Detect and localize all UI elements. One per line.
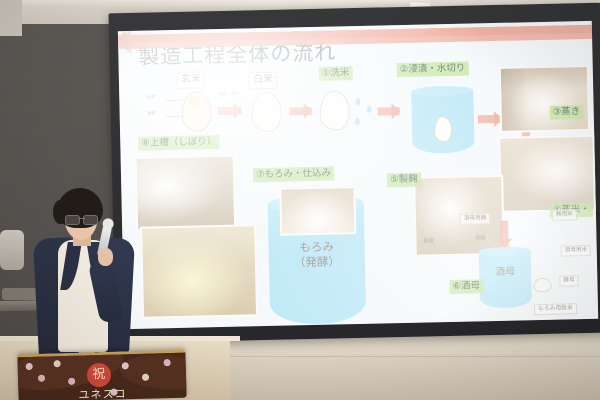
washed-rice-grain xyxy=(319,90,350,131)
presenter xyxy=(24,186,140,376)
label-germ: 胚芽 xyxy=(147,94,155,99)
label-polishing: 精米・ぬか xyxy=(219,91,239,96)
label-brown-rice: 玄米 xyxy=(177,71,205,88)
water-drop-icon xyxy=(355,118,360,125)
podium-sign: 祝 ユネスコ 無形文化遺産 xyxy=(17,350,186,400)
wall-corner-panel xyxy=(0,0,22,36)
classroom-equipment xyxy=(0,230,24,270)
label-koji-rice: 麹用米 xyxy=(552,209,577,221)
photo-cooling xyxy=(498,135,596,213)
moromi-label-line2: （発酵） xyxy=(269,254,365,272)
water-drop-icon xyxy=(355,98,360,105)
step-label-1: ①洗米 xyxy=(319,66,353,81)
label-shubo-rice: 酒母用米 xyxy=(561,245,592,257)
label-koji-room: 麹室 xyxy=(422,238,435,245)
arrow-to-step1 xyxy=(289,103,311,119)
podium-sign-board: 祝 ユネスコ 無形文化遺産 xyxy=(17,350,186,400)
photo-sake-flow xyxy=(140,224,258,319)
arrow-to-step2 xyxy=(377,103,399,119)
photo-scene: 製造工程全体の流れ 玄米 白米 胚芽 糠層 精米・ぬか xyxy=(0,0,600,400)
moromi-tank-text: もろみ （発酵） xyxy=(268,239,365,272)
step-label-3: ③蒸き xyxy=(550,105,584,120)
step-label-7: ⑦もろみ・仕込み xyxy=(253,167,334,183)
soaked-rice-grain xyxy=(434,116,453,142)
label-white-rice: 白米 xyxy=(249,72,277,89)
photo-moromi-surface xyxy=(279,186,356,236)
photo-steaming xyxy=(499,65,590,133)
glasses-icon xyxy=(65,215,98,223)
arrow-shubo-rice xyxy=(119,70,151,87)
photo-pressing xyxy=(135,155,237,231)
label-koji-mold: 麹菌 xyxy=(474,235,487,242)
water-drop-icon xyxy=(367,106,372,113)
step-label-2: ②浸漬・水切り xyxy=(397,62,469,77)
label-bran: 糠層 xyxy=(148,110,156,115)
projection-screen: 製造工程全体の流れ 玄米 白米 胚芽 糠層 精米・ぬか xyxy=(108,3,600,344)
label-shubo-koji: 酒母用麹 xyxy=(460,213,491,225)
step-label-8: ⑧上槽（しぼり） xyxy=(138,135,219,151)
shubo-tank: 酒母 xyxy=(479,246,532,309)
brown-rice-grain xyxy=(181,91,212,132)
screen-surface: 製造工程全体の流れ 玄米 白米 胚芽 糠層 精米・ぬか xyxy=(118,21,598,329)
rice-germ xyxy=(188,95,200,107)
yeast-icon xyxy=(533,278,551,292)
arrow-to-step3 xyxy=(478,111,502,128)
germ-leader-line xyxy=(165,100,183,101)
label-moromi-kakemai: もろみ用掛米 xyxy=(534,303,577,315)
white-rice-grain xyxy=(251,92,282,133)
step-label-5: ⑤製麹 xyxy=(387,173,421,188)
shubo-label: 酒母 xyxy=(479,265,531,280)
celebration-seal: 祝 xyxy=(87,363,112,388)
arrow-shubo-koji xyxy=(496,221,513,247)
label-yeast: 酵母 xyxy=(559,275,578,286)
slide-content: 製造工程全体の流れ 玄米 白米 胚芽 糠層 精米・ぬか xyxy=(118,21,598,329)
hand-on-microphone xyxy=(98,248,113,266)
step-label-6: ⑥酒母 xyxy=(449,279,483,294)
arrow-polishing xyxy=(217,103,241,120)
